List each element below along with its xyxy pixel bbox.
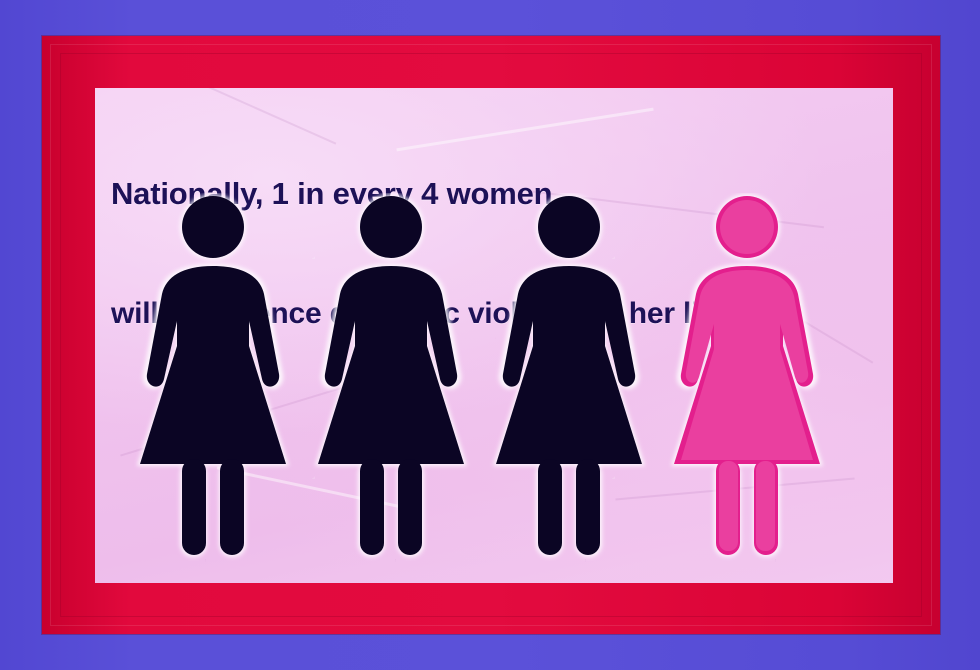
woman-silhouette-1-icon bbox=[123, 193, 303, 561]
artwork-panel: Nationally, 1 in every 4 women will expe… bbox=[95, 88, 893, 583]
poster-canvas: Nationally, 1 in every 4 women will expe… bbox=[0, 0, 980, 670]
woman-silhouette-3-icon bbox=[479, 193, 659, 561]
woman-silhouette-4-highlighted-icon bbox=[657, 193, 837, 561]
woman-silhouette-2-icon bbox=[301, 193, 481, 561]
pictogram-figure-row bbox=[95, 88, 893, 583]
